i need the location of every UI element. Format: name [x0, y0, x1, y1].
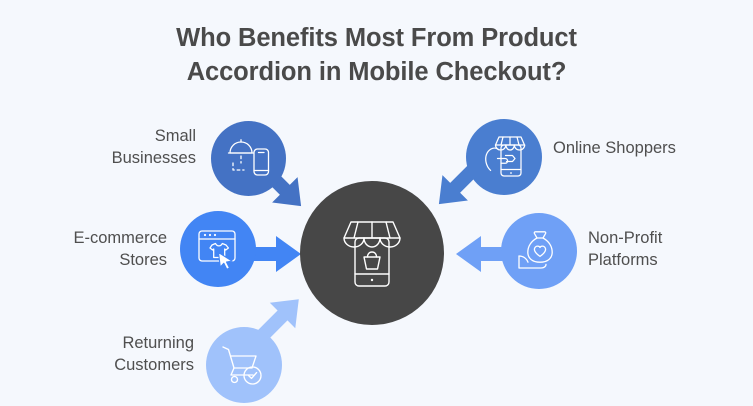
- label-non-profit-platforms: Non-Profit Platforms: [588, 228, 748, 272]
- label-small-businesses: Small Businesses: [50, 126, 196, 170]
- node-ecommerce-stores[interactable]: [180, 211, 256, 287]
- node-small-businesses[interactable]: [211, 121, 286, 196]
- node-online-shoppers[interactable]: [466, 119, 542, 195]
- infographic-canvas: Who Benefits Most From Product Accordion…: [0, 0, 753, 406]
- label-returning-customers: Returning Customers: [0, 333, 194, 377]
- label-online-shoppers: Online Shoppers: [553, 138, 733, 160]
- page-title-line-1: Who Benefits Most From Product: [0, 22, 753, 56]
- page-title: Who Benefits Most From Product Accordion…: [0, 22, 753, 89]
- node-non-profit-platforms[interactable]: [501, 213, 577, 289]
- label-ecommerce-stores: E-commerce Stores: [0, 228, 167, 272]
- node-returning-customers[interactable]: [206, 327, 282, 403]
- storefront-phone-hand-icon: [482, 135, 526, 179]
- center-node-mobile-checkout: [300, 181, 444, 325]
- browser-tshirt-cursor-icon: [196, 228, 240, 270]
- shopping-cart-check-icon: [222, 344, 266, 386]
- donation-bag-heart-hand-icon: [517, 230, 561, 272]
- page-title-line-2: Accordion in Mobile Checkout?: [0, 56, 753, 90]
- food-dome-mobile-icon: [227, 139, 271, 179]
- mobile-storefront-icon: [341, 217, 403, 289]
